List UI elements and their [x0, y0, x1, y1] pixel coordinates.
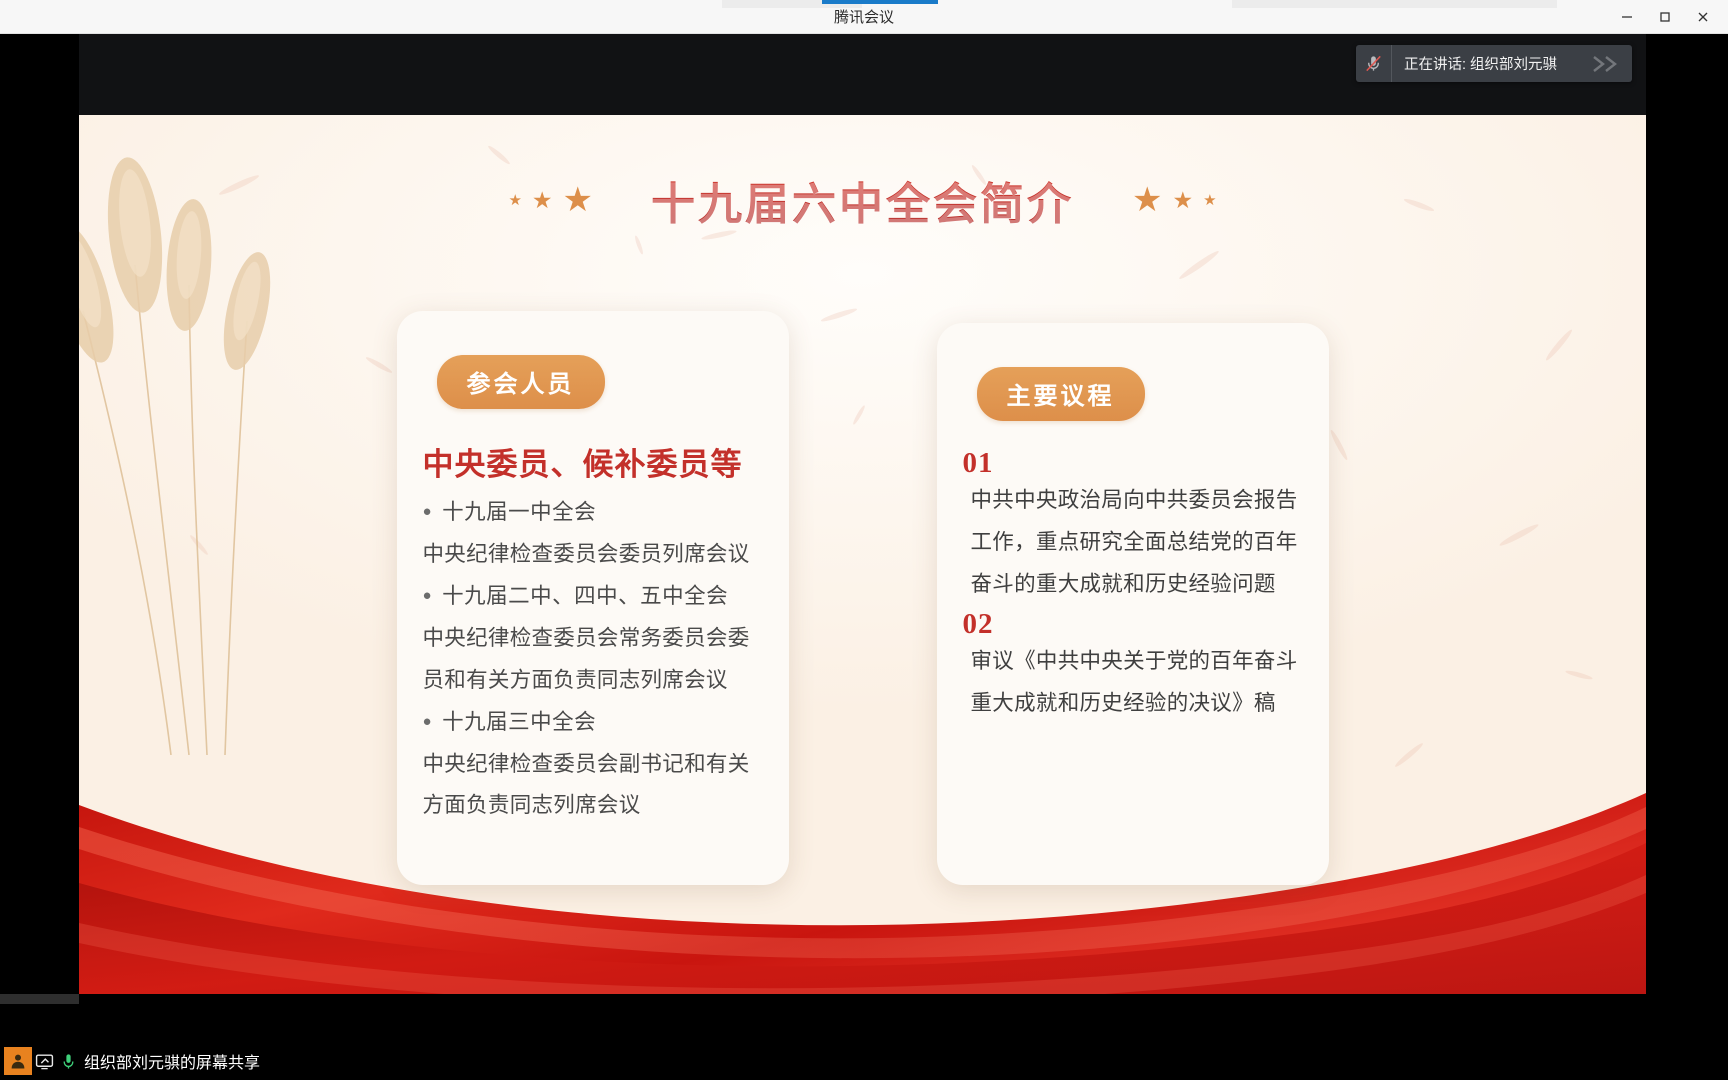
star-icon: ★	[563, 183, 593, 217]
window-title: 腾讯会议	[0, 0, 1728, 34]
slide-title-row: ★ ★ ★ 十九届六中全会简介 ★ ★ ★	[79, 165, 1646, 235]
star-icon: ★	[1132, 183, 1162, 217]
agenda-number: 01	[963, 447, 1303, 480]
star-icon: ★	[532, 189, 553, 212]
screen-share-icon[interactable]	[32, 1047, 56, 1075]
screen-share-viewport[interactable]: 正在讲话: 组织部刘元骐	[79, 34, 1646, 997]
agenda-text: 中共中央政治局向中共委员会报告工作，重点研究全面总结党的百年奋斗的重大成就和历史…	[963, 480, 1303, 606]
mic-muted-icon	[1356, 45, 1392, 82]
taskbar: 组织部刘元骐的屏幕共享	[0, 1042, 1728, 1080]
star-decoration-left: ★ ★ ★	[508, 183, 593, 217]
slide-title: 十九届六中全会简介	[651, 168, 1074, 232]
agenda-item: 02 审议《中共中央关于党的百年奋斗重大成就和历史经验的决议》稿	[963, 608, 1303, 725]
taskbar-divider	[0, 994, 1728, 1004]
star-icon: ★	[1203, 193, 1216, 208]
star-icon: ★	[508, 193, 521, 208]
agenda-text: 审议《中共中央关于党的百年奋斗重大成就和历史经验的决议》稿	[963, 641, 1303, 725]
bullet-dot-icon: ●	[423, 588, 433, 603]
slide-cards: 参会人员 中央委员、候补委员等 ● 十九届一中全会 中央纪律检查委员会委员列席会…	[79, 311, 1646, 885]
maximize-icon[interactable]	[1646, 2, 1684, 32]
meeting-window-body: 正在讲话: 组织部刘元骐	[0, 34, 1728, 1042]
star-icon: ★	[1172, 189, 1193, 212]
agenda-number: 02	[963, 608, 1303, 641]
list-item-label: 十九届三中全会	[442, 702, 762, 744]
card-heading-attendees: 中央委员、候补委员等	[423, 439, 763, 484]
list-item: ● 十九届三中全会	[423, 702, 763, 744]
bullet-dot-icon: ●	[423, 504, 433, 519]
speaking-toast[interactable]: 正在讲话: 组织部刘元骐	[1356, 45, 1632, 82]
presentation-slide: ★ ★ ★ 十九届六中全会简介 ★ ★ ★ 参会人员 中央委员、候补委员等	[79, 115, 1646, 997]
agenda-item: 01 中共中央政治局向中共委员会报告工作，重点研究全面总结党的百年奋斗的重大成就…	[963, 447, 1303, 606]
list-item-label: 十九届一中全会	[442, 492, 762, 534]
list-item-detail: 中央纪律检查委员会委员列席会议	[423, 534, 763, 576]
list-item-label: 十九届二中、四中、五中全会	[442, 576, 762, 618]
window-titlebar: 腾讯会议	[0, 0, 1728, 34]
list-item-detail: 中央纪律检查委员会常务委员会委员和有关方面负责同志列席会议	[423, 618, 763, 702]
attendees-list: ● 十九届一中全会 中央纪律检查委员会委员列席会议 ● 十九届二中、四中、五中全…	[423, 492, 763, 827]
person-icon[interactable]	[4, 1047, 32, 1075]
agenda-list: 01 中共中央政治局向中共委员会报告工作，重点研究全面总结党的百年奋斗的重大成就…	[963, 447, 1303, 725]
list-item-detail: 中央纪律检查委员会副书记和有关方面负责同志列席会议	[423, 744, 763, 828]
list-item: ● 十九届一中全会	[423, 492, 763, 534]
card-badge-agenda: 主要议程	[977, 367, 1145, 421]
taskbar-label: 组织部刘元骐的屏幕共享	[84, 1049, 260, 1073]
window-controls	[1608, 0, 1722, 34]
card-attendees: 参会人员 中央委员、候补委员等 ● 十九届一中全会 中央纪律检查委员会委员列席会…	[397, 311, 789, 885]
minimize-icon[interactable]	[1608, 2, 1646, 32]
taskbar-edge-block	[0, 994, 79, 1004]
card-agenda: 主要议程 01 中共中央政治局向中共委员会报告工作，重点研究全面总结党的百年奋斗…	[937, 323, 1329, 885]
microphone-icon[interactable]	[56, 1047, 80, 1075]
close-icon[interactable]	[1684, 2, 1722, 32]
card-badge-attendees: 参会人员	[437, 355, 605, 409]
list-item: ● 十九届二中、四中、五中全会	[423, 576, 763, 618]
star-decoration-right: ★ ★ ★	[1132, 183, 1217, 217]
bullet-dot-icon: ●	[423, 714, 433, 729]
chevron-double-right-icon	[1590, 54, 1624, 74]
